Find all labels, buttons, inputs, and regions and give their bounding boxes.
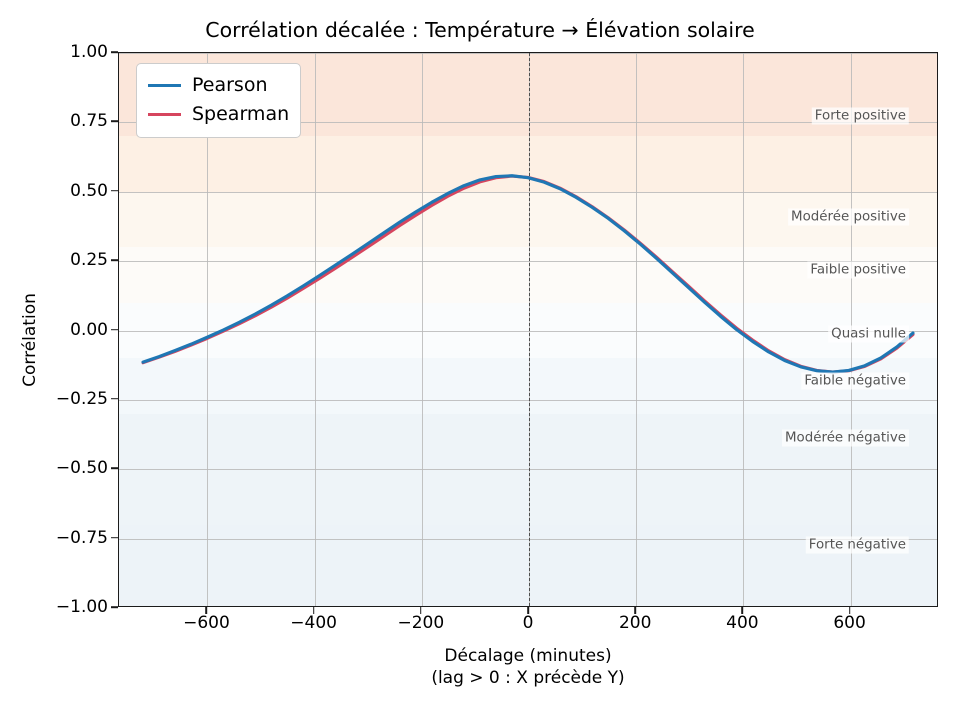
x-axis-label-line2: (lag > 0 : X précède Y): [118, 667, 938, 689]
legend-label-spearman: Spearman: [192, 105, 289, 124]
x-tick-mark: [313, 607, 315, 614]
x-tick-mark: [742, 607, 744, 614]
x-axis-label-line1: Décalage (minutes): [118, 645, 938, 667]
legend-item-spearman[interactable]: Spearman: [148, 100, 289, 129]
y-tick-label: −0.50: [0, 458, 117, 478]
curve-spearman: [143, 176, 913, 372]
curve-pearson: [143, 176, 913, 372]
x-tick-mark: [420, 607, 422, 614]
band-label-0: Forte positive: [812, 107, 909, 124]
y-tick-label: 1.00: [0, 42, 117, 62]
y-tick-label: −0.25: [0, 389, 117, 409]
x-tick-label: 600: [833, 613, 865, 633]
legend-label-pearson: Pearson: [192, 76, 268, 95]
legend-swatch-pearson: [148, 84, 181, 87]
chart-figure: Corrélation décalée : Température → Élév…: [0, 0, 960, 720]
chart-title: Corrélation décalée : Température → Élév…: [0, 18, 960, 42]
x-tick-label: 200: [619, 613, 651, 633]
chart-legend[interactable]: Pearson Spearman: [136, 63, 301, 138]
y-tick-mark: [111, 537, 118, 539]
x-tick-mark: [634, 607, 636, 614]
y-tick-label: 0.75: [0, 111, 117, 131]
x-axis-label: Décalage (minutes) (lag > 0 : X précède …: [118, 645, 938, 690]
band-label-2: Faible positive: [807, 261, 909, 278]
y-tick-label: −1.00: [0, 597, 117, 617]
y-tick-mark: [111, 190, 118, 192]
y-tick-label: 0.50: [0, 181, 117, 201]
y-tick-mark: [111, 398, 118, 400]
band-label-6: Forte négative: [806, 536, 909, 553]
y-tick-mark: [111, 51, 118, 53]
band-label-5: Modérée négative: [782, 429, 909, 446]
x-tick-mark: [849, 607, 851, 614]
y-tick-mark: [111, 329, 118, 331]
y-tick-mark: [111, 467, 118, 469]
x-tick-label: −400: [290, 613, 337, 633]
legend-swatch-spearman: [148, 113, 181, 116]
x-tick-label: 400: [726, 613, 758, 633]
y-tick-mark: [111, 121, 118, 123]
y-tick-label: 0.00: [0, 320, 117, 340]
y-tick-mark: [111, 606, 118, 608]
legend-item-pearson[interactable]: Pearson: [148, 71, 289, 100]
band-label-1: Modérée positive: [788, 209, 909, 226]
x-tick-label: −600: [183, 613, 230, 633]
band-label-3: Quasi nulle: [828, 325, 909, 342]
y-tick-label: 0.25: [0, 250, 117, 270]
y-tick-label: −0.75: [0, 528, 117, 548]
band-label-4: Faible négative: [801, 372, 909, 389]
y-tick-mark: [111, 259, 118, 261]
y-axis-label: Corrélation: [20, 240, 40, 440]
x-tick-mark: [527, 607, 529, 614]
x-tick-label: 0: [523, 613, 534, 633]
x-tick-mark: [206, 607, 208, 614]
x-tick-label: −200: [397, 613, 444, 633]
